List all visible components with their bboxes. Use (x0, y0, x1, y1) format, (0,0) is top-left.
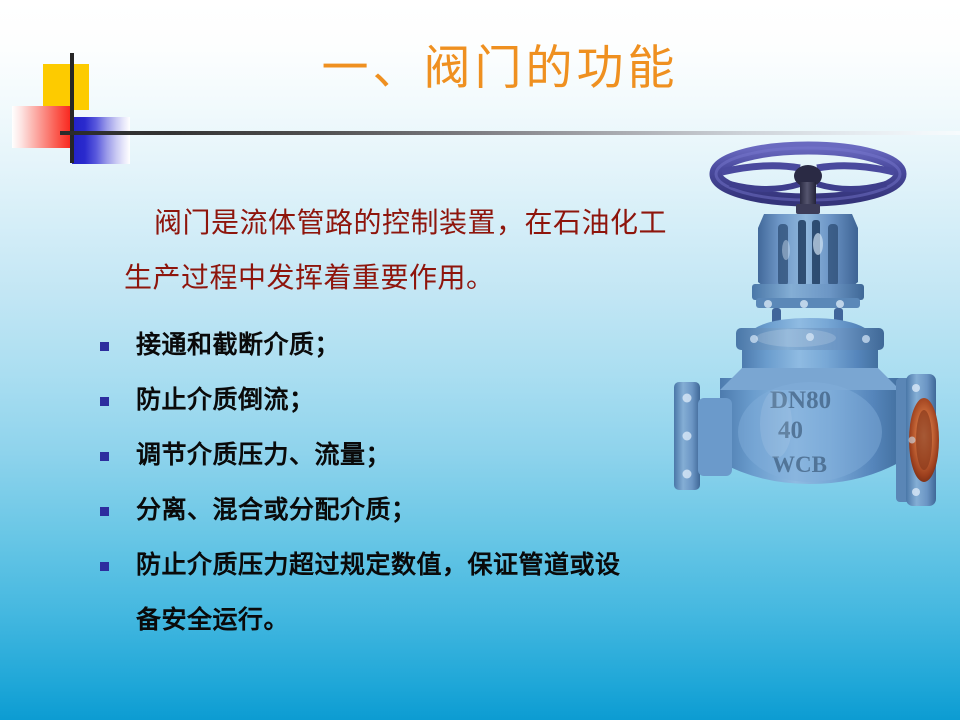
list-item: 防止介质压力超过规定数值，保证管道或设 备安全运行。 (96, 538, 696, 648)
red-gradient-rectangle-shape (12, 106, 74, 148)
list-item: 防止介质倒流； (96, 373, 696, 428)
blue-gradient-rectangle-shape (72, 117, 130, 164)
list-item-label: 分离、混合或分配介质； (136, 497, 417, 524)
list-item-label: 调节介质压力、流量； (136, 442, 391, 469)
bullet-list: 接通和截断介质； 防止介质倒流； 调节介质压力、流量； 分离、混合或分配介质； … (96, 318, 696, 648)
square-bullet-icon (100, 397, 109, 406)
list-item-label: 接通和截断介质； (136, 332, 340, 359)
list-item: 分离、混合或分配介质； (96, 483, 696, 538)
square-bullet-icon (100, 507, 109, 516)
lead-paragraph: 阀门是流体管路的控制装置，在石油化工生产过程中发挥着重要作用。 (124, 196, 684, 306)
bonnet-yoke (758, 214, 858, 292)
square-bullet-icon (100, 342, 109, 351)
left-flange (674, 382, 732, 490)
list-item-label: 防止介质压力超过规定数值，保证管道或设 (136, 552, 621, 579)
right-flange (896, 374, 939, 506)
slide: 一、阀门的功能 阀门是流体管路的控制装置，在石油化工生产过程中发挥着重要作用。 … (0, 0, 960, 720)
gate-valve-photo: DN80 40 WCB (660, 132, 960, 522)
square-bullet-icon (100, 562, 109, 571)
list-item-label-continued: 备安全运行。 (136, 593, 696, 648)
vertical-rule (70, 53, 74, 163)
square-bullet-icon (100, 452, 109, 461)
yellow-square-shape (43, 64, 89, 110)
list-item-label: 防止介质倒流； (136, 387, 315, 414)
list-item: 接通和截断介质； (96, 318, 696, 373)
slide-title: 一、阀门的功能 (150, 45, 850, 94)
list-item: 调节介质压力、流量； (96, 428, 696, 483)
